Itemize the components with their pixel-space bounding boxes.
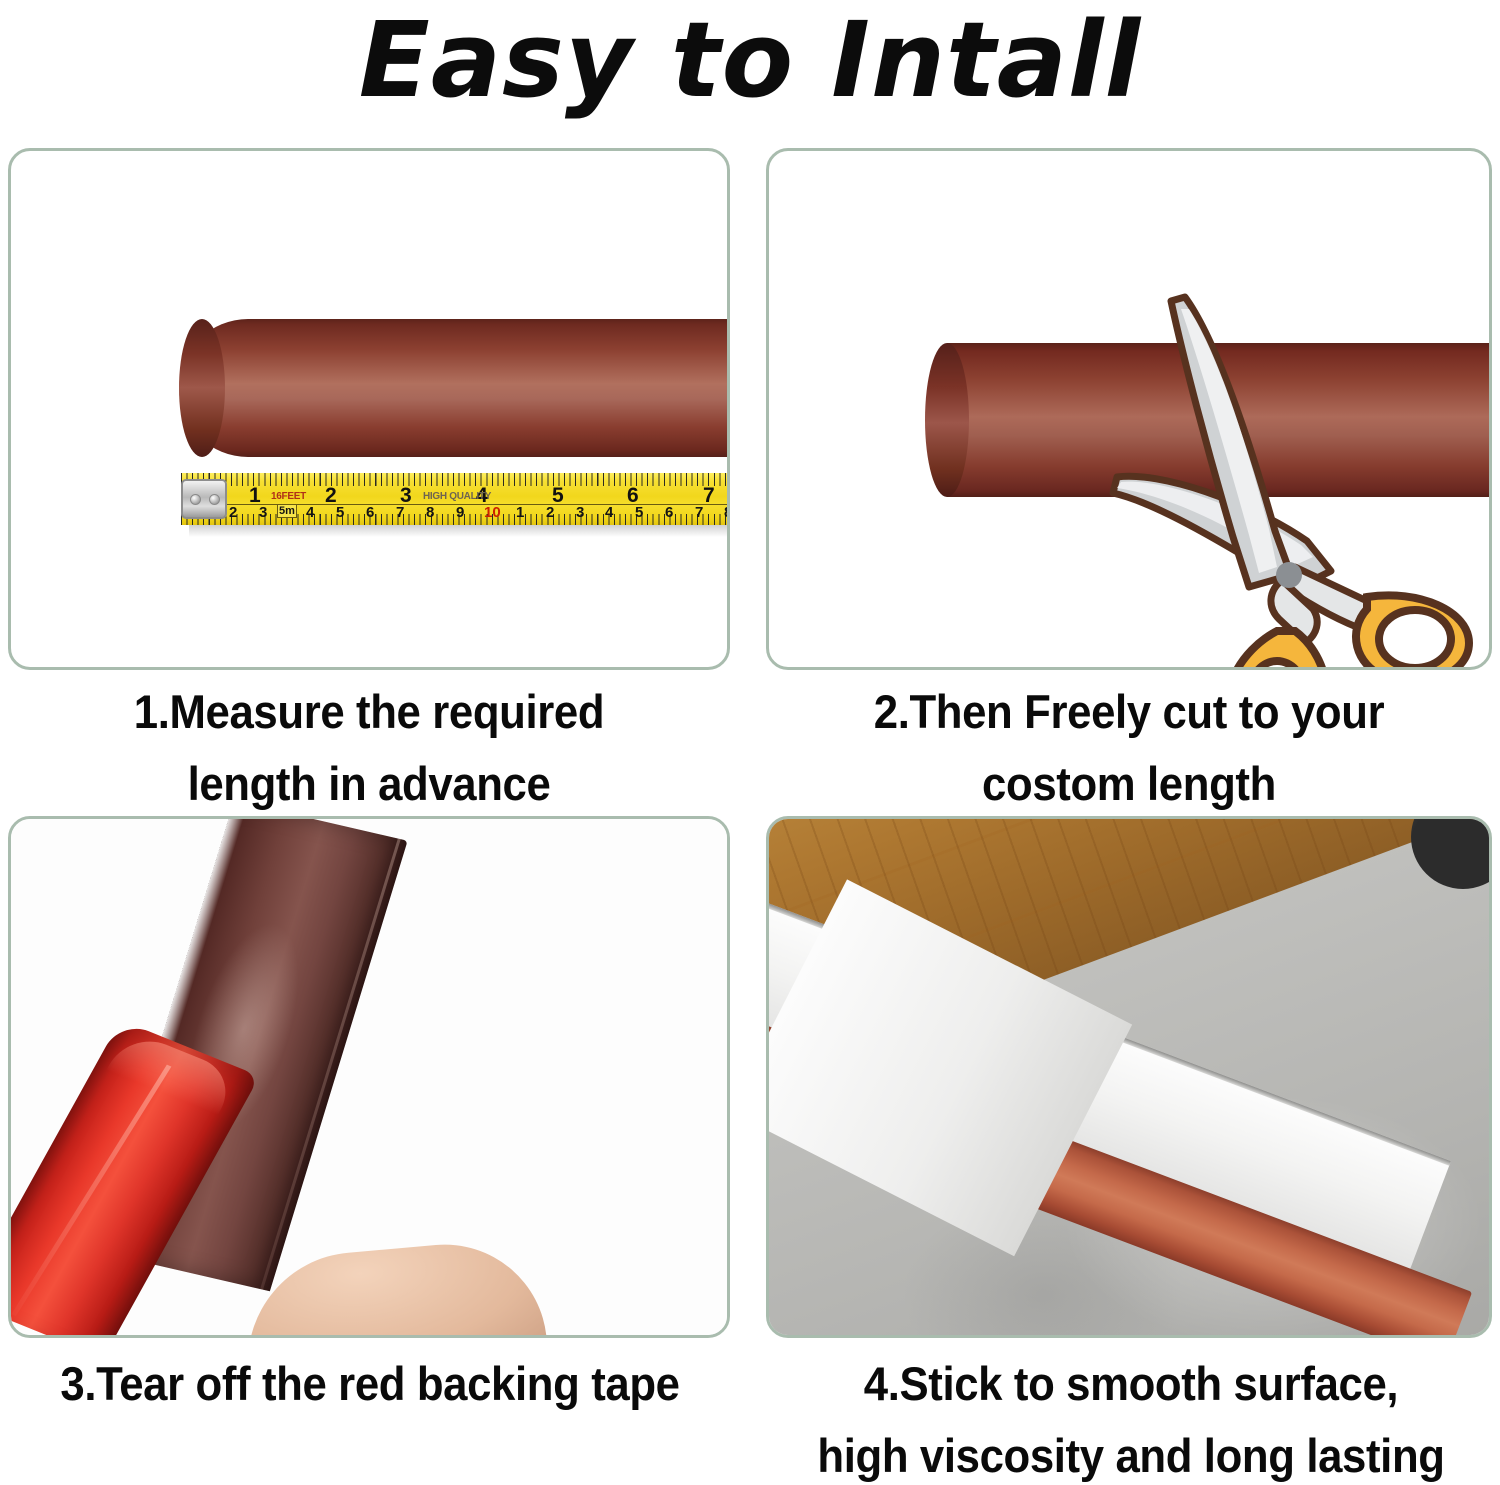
tape-rivet-icon <box>209 494 220 505</box>
caption-line: 3.Tear off the red backing tape <box>26 1348 714 1420</box>
tape-cm-mark: 4 <box>306 504 314 521</box>
tape-hook-icon <box>181 479 227 519</box>
tape-cm-mark: 3 <box>576 504 584 521</box>
tape-inch-mark: 7 <box>703 484 715 508</box>
step-panel-peel <box>8 816 730 1338</box>
caption-line: length in advance <box>33 748 704 820</box>
tape-cm-mark: 1 <box>516 504 524 521</box>
tape-cm-mark: 4 <box>605 504 613 521</box>
tape-brand-label: 16FEET <box>271 491 306 502</box>
step-panel-stick <box>766 816 1492 1338</box>
step-caption-peel: 3.Tear off the red backing tape <box>26 1348 714 1420</box>
infographic-page: Easy to Intall 1 2 3 4 5 6 7 16FEET HIGH… <box>0 0 1500 1485</box>
caption-line: costom length <box>791 748 1466 820</box>
trim-strip-illustration <box>179 319 730 457</box>
tape-cm-mark: 5 <box>336 504 344 521</box>
tape-cm-mark: 7 <box>695 504 703 521</box>
step-panel-cut <box>766 148 1492 670</box>
tape-drop-shadow <box>189 525 730 537</box>
tape-cm-mark: 9 <box>456 504 464 521</box>
tape-metric-label: 5m <box>277 504 297 518</box>
caption-line: 4.Stick to smooth surface, <box>788 1348 1474 1420</box>
step-caption-cut: 2.Then Freely cut to your costom length <box>791 676 1466 820</box>
tape-cm-mark: 6 <box>665 504 673 521</box>
tape-cm-mark: 2 <box>546 504 554 521</box>
installed-trim-photo <box>769 819 1489 1335</box>
tape-cm-mark: 3 <box>259 504 267 521</box>
step-caption-measure: 1.Measure the required length in advance <box>33 676 704 820</box>
vinyl-edge-highlight <box>260 838 401 1289</box>
tape-cm-mark: 6 <box>366 504 374 521</box>
tape-cm-mark: 5 <box>635 504 643 521</box>
peel-backing-photo <box>11 819 727 1335</box>
hand-finger <box>239 1236 547 1335</box>
scissors-icon <box>1099 279 1479 669</box>
tape-cm-mark: 10 <box>484 504 501 521</box>
tape-measure-illustration: 1 2 3 4 5 6 7 16FEET HIGH QUALITY 2 3 5m… <box>181 473 730 525</box>
step-caption-stick: 4.Stick to smooth surface, high viscosit… <box>788 1348 1474 1485</box>
tape-cm-mark: 2 <box>229 504 237 521</box>
page-title: Easy to Intall <box>0 4 1500 116</box>
tape-rivet-icon <box>190 494 201 505</box>
tape-cm-mark: 7 <box>396 504 404 521</box>
caption-line: 1.Measure the required <box>33 676 704 748</box>
caption-line: high viscosity and long lasting <box>788 1420 1474 1485</box>
tape-inch-mark: 2 <box>325 484 337 508</box>
backing-tape-crease <box>11 1065 171 1317</box>
caption-line: 2.Then Freely cut to your <box>791 676 1466 748</box>
tape-quality-label: HIGH QUALITY <box>423 491 491 502</box>
tape-ticks-top <box>181 473 730 486</box>
tape-cm-mark: 8 <box>724 504 730 521</box>
tape-cm-mark: 8 <box>426 504 434 521</box>
step-panel-measure: 1 2 3 4 5 6 7 16FEET HIGH QUALITY 2 3 5m… <box>8 148 730 670</box>
